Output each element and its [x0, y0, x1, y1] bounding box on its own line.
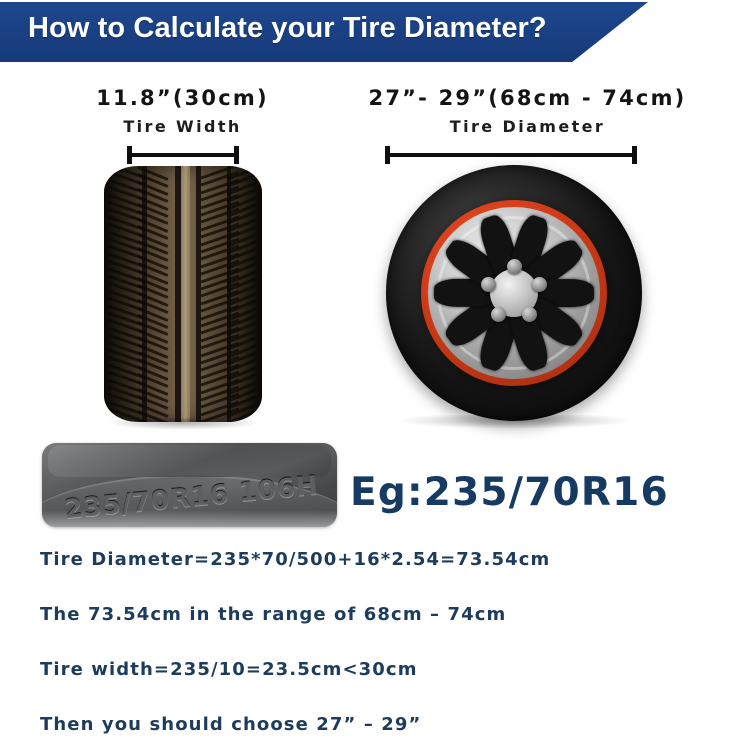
dimension-cap-right-icon [234, 146, 239, 164]
lug-nut [491, 307, 506, 322]
sidewall-highlight [48, 445, 331, 477]
tread-sipes [104, 166, 262, 422]
tread-shadow [106, 418, 260, 430]
tire-tread-surface [104, 166, 262, 422]
lug-nut [507, 259, 522, 274]
calculation-line-2: The 73.54cm in the range of 68cm – 74cm [40, 604, 506, 625]
tire-width-label-group: 11.8”(30cm) Tire Width [61, 86, 304, 136]
tire-diameter-dimension-bar [385, 146, 637, 164]
calculation-line-4: Then you should choose 27” – 29” [40, 714, 422, 735]
wheel-image [386, 165, 642, 421]
tire-diameter-caption: Tire Diameter [330, 117, 725, 136]
calculation-line-3: Tire width=235/10=23.5cm<30cm [40, 659, 418, 680]
tire-sidewall-photo: 235/70R16 106H [42, 443, 337, 527]
tire-diameter-value: 27”- 29”(68cm - 74cm) [330, 86, 725, 110]
dimension-cap-right-icon [632, 146, 637, 164]
tire-width-dimension-bar [127, 146, 239, 164]
page-title: How to Calculate your Tire Diameter? [28, 12, 547, 45]
tire-diameter-label-group: 27”- 29”(68cm - 74cm) Tire Diameter [330, 86, 725, 136]
tire-width-caption: Tire Width [61, 117, 304, 136]
example-headline: Eg:235/70R16 [350, 470, 669, 515]
lug-nut [481, 277, 496, 292]
dimension-line [127, 153, 239, 157]
infographic-page: How to Calculate your Tire Diameter? 11.… [0, 0, 750, 750]
dimension-line [385, 153, 637, 157]
tire-width-value: 11.8”(30cm) [61, 86, 304, 110]
tire-tread-image [104, 166, 262, 422]
wheel-shadow [396, 415, 632, 429]
calculation-line-1: Tire Diameter=235*70/500+16*2.54=73.54cm [40, 549, 550, 570]
